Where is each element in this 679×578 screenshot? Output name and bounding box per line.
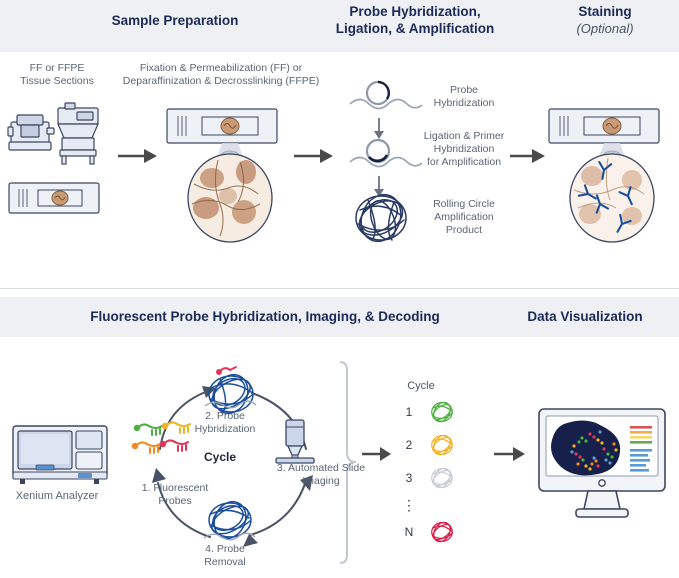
header-probe-line1: Probe Hybridization,: [300, 3, 530, 20]
caption-cycle-step-3: 3. Automated Slide Imaging: [262, 462, 380, 488]
cycle-column-title: Cycle: [396, 380, 446, 392]
caption-tissue-sections: FF or FFPE Tissue Sections: [2, 62, 112, 88]
caption-ph-line2: Hybridization: [418, 97, 510, 110]
stained-tissue-magnification-icon: [548, 108, 668, 238]
caption-step2-line2: Hybridization: [170, 423, 280, 436]
caption-xenium-analyzer: Xenium Analyzer: [2, 490, 112, 503]
arrow-right-icon-2: [294, 148, 334, 164]
caption-ph-line1: Probe: [418, 84, 510, 97]
caption-step4-line1: 4. Probe: [175, 543, 275, 556]
header-staining-optional: (Optional): [540, 20, 670, 37]
cycle-row-label-3: 3: [398, 471, 420, 485]
arrow-right-icon-5: [494, 446, 526, 462]
data-visualization-monitor-icon: [538, 408, 666, 523]
cycle-row-label-1: 1: [398, 405, 420, 419]
caption-rca-line1: Rolling Circle: [414, 198, 514, 211]
caption-cycle-step-4: 4. Probe Removal: [175, 543, 275, 569]
caption-lig-line1: Ligation & Primer: [410, 130, 518, 143]
caption-rca-line2: Amplification: [414, 211, 514, 224]
cycle-row-label-2: 2: [398, 438, 420, 452]
caption-step3-line2: Imaging: [262, 475, 380, 488]
tissue-slide-icon: [8, 182, 100, 214]
caption-cycle-step-2: 2. Probe Hybridization: [170, 410, 280, 436]
arrow-right-icon-3: [510, 148, 546, 164]
xenium-analyzer-icon: [12, 425, 108, 487]
ligation-primer-icon: [348, 136, 424, 176]
cycle-probe-hybridization-icon: [200, 364, 262, 416]
cycle-blob-1: [428, 398, 456, 426]
caption-probe-hybridization: Probe Hybridization: [418, 84, 510, 110]
cycle-row-label-ellipsis: ⋮: [398, 500, 420, 510]
tissue-sectioning-instruments-icon: [8, 100, 108, 170]
caption-step1-line2: Probes: [120, 495, 230, 508]
header-staining: Staining (Optional): [540, 3, 670, 37]
cycle-blob-2: [428, 431, 456, 459]
caption-lig-line2: Hybridization: [410, 143, 518, 156]
caption-step1-line1: 1. Fluorescent: [120, 482, 230, 495]
probe-hybridization-icon: [348, 78, 424, 118]
caption-fixation-line1: Fixation & Permeabilization (FF) or: [112, 62, 330, 75]
arrow-right-icon-4: [362, 446, 392, 462]
caption-ligation-primer: Ligation & Primer Hybridization for Ampl…: [410, 130, 518, 169]
cycle-center-label: Cycle: [185, 450, 255, 464]
rolling-circle-product-icon: [348, 190, 414, 246]
header-staining-title: Staining: [540, 3, 670, 20]
header-fluorescent-probe: Fluorescent Probe Hybridization, Imaging…: [40, 308, 490, 325]
caption-tissue-line2: Tissue Sections: [2, 75, 112, 88]
arrow-right-icon-1: [118, 148, 158, 164]
caption-step2-line1: 2. Probe: [170, 410, 280, 423]
cycle-blob-n: [428, 518, 456, 546]
header-data-visualization: Data Visualization: [500, 308, 670, 325]
section-divider: [0, 288, 679, 289]
caption-rolling-circle: Rolling Circle Amplification Product: [414, 198, 514, 237]
cycle-blob-3: [428, 464, 456, 492]
cycle-row-label-n: N: [398, 525, 420, 539]
caption-tissue-line1: FF or FFPE: [2, 62, 112, 75]
caption-fixation: Fixation & Permeabilization (FF) or Depa…: [112, 62, 330, 88]
fixed-tissue-magnification-icon: [166, 108, 286, 238]
caption-cycle-step-1: 1. Fluorescent Probes: [120, 482, 230, 508]
caption-lig-line3: for Amplification: [410, 156, 518, 169]
header-sample-preparation: Sample Preparation: [60, 12, 290, 29]
header-probe-line2: Ligation, & Amplification: [300, 20, 530, 37]
caption-fixation-line2: Deparaffinization & Decrosslinking (FFPE…: [112, 75, 330, 88]
caption-rca-line3: Product: [414, 224, 514, 237]
caption-step4-line2: Removal: [175, 556, 275, 569]
header-probe-hybridization: Probe Hybridization, Ligation, & Amplifi…: [300, 3, 530, 37]
caption-step3-line1: 3. Automated Slide: [262, 462, 380, 475]
